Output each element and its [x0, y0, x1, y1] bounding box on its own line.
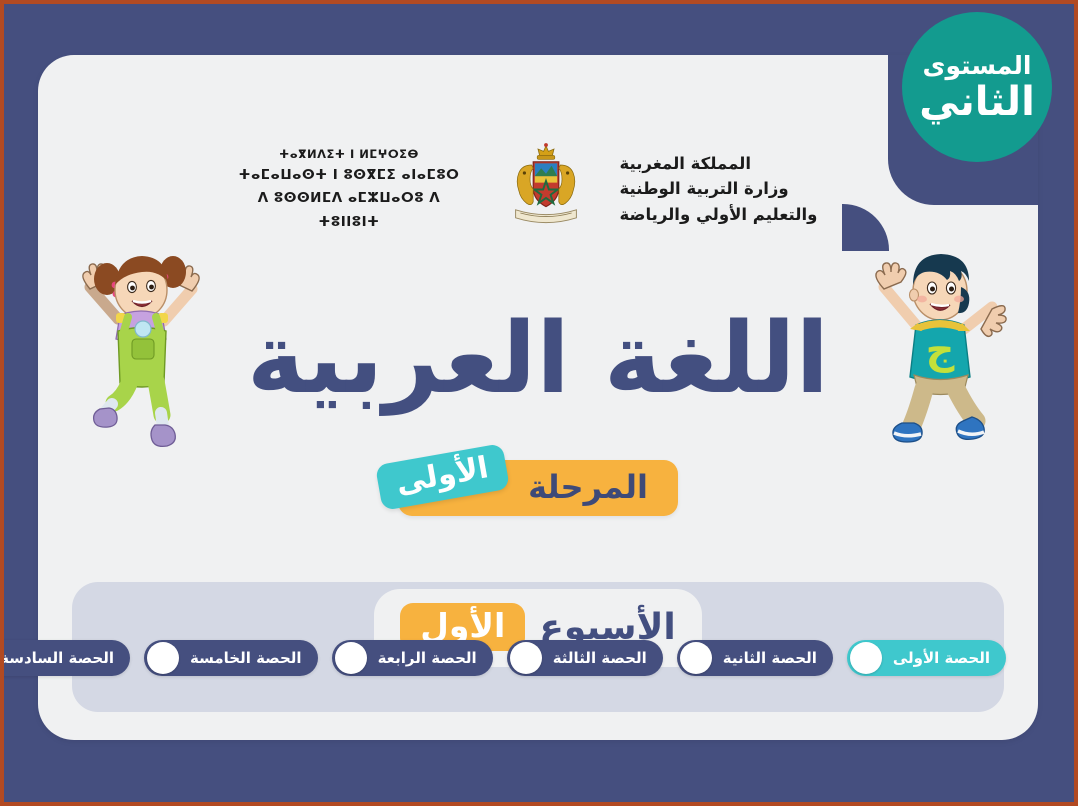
session-pill-6[interactable]: الحصة السادسة: [4, 640, 130, 676]
session-toggle-knob-5: [147, 642, 179, 674]
moroccan-coat-of-arms-icon: [498, 141, 594, 237]
session-toggle-knob-2: [680, 642, 712, 674]
session-pill-label-2: الحصة الثانية: [723, 649, 817, 667]
level-badge: المستوى الثاني: [902, 12, 1052, 162]
session-pill-2[interactable]: الحصة الثانية: [677, 640, 833, 676]
ministry-tifinagh-line-2: ⵜⴰⵎⴰⵡⴰⵙⵜ ⵏ ⵓⵙⴳⵎⵉ ⴰⵏⴰⵎⵓⵔ: [227, 164, 472, 188]
session-toggle-knob-4: [335, 642, 367, 674]
main-card: المملكة المغربية وزارة التربية الوطنية و…: [38, 55, 1038, 740]
page-frame: المملكة المغربية وزارة التربية الوطنية و…: [0, 0, 1078, 806]
session-pill-1[interactable]: الحصة الأولى: [847, 640, 1006, 676]
ministry-header: المملكة المغربية وزارة التربية الوطنية و…: [38, 141, 1038, 237]
page-background: المملكة المغربية وزارة التربية الوطنية و…: [4, 4, 1074, 802]
level-badge-top-label: المستوى: [923, 53, 1032, 78]
ministry-arabic-line-1: المملكة المغربية: [620, 151, 850, 177]
page-title-wrap: اللغة العربية: [38, 307, 1038, 413]
ministry-arabic-block: المملكة المغربية وزارة التربية الوطنية و…: [620, 151, 850, 228]
session-pill-label-4: الحصة الرابعة: [378, 649, 477, 667]
ministry-tifinagh-block: ⵜⴰⴳⵍⴷⵉⵜ ⵏ ⵍⵎⵖⵔⵉⴱ ⵜⴰⵎⴰⵡⴰⵙⵜ ⵏ ⵓⵙⴳⵎⵉ ⴰⵏⴰⵎⵓⵔ…: [227, 144, 472, 235]
ministry-arabic-line-2: وزارة التربية الوطنية: [620, 176, 850, 202]
session-pill-5[interactable]: الحصة الخامسة: [144, 640, 318, 676]
session-pill-label-3: الحصة الثالثة: [553, 649, 647, 667]
page-title: اللغة العربية: [38, 307, 1038, 413]
stage-ordinal-badge: الأولى: [375, 443, 510, 511]
ministry-tifinagh-line-1: ⵜⴰⴳⵍⴷⵉⵜ ⵏ ⵍⵎⵖⵔⵉⴱ: [227, 144, 472, 164]
stage-badge-wrap: المرحلة الأولى: [38, 460, 1038, 516]
ministry-arabic-line-3: والتعليم الأولي والرياضة: [620, 202, 850, 228]
session-pill-list: الحصة الأولى الحصة الثانية الحصة الثالثة…: [72, 638, 1012, 678]
session-pill-label-6: الحصة السادسة: [4, 649, 114, 667]
session-pill-3[interactable]: الحصة الثالثة: [507, 640, 663, 676]
session-toggle-knob-3: [510, 642, 542, 674]
level-badge-main-label: الثاني: [919, 82, 1035, 122]
session-pill-label-5: الحصة الخامسة: [190, 649, 302, 667]
session-pill-label-1: الحصة الأولى: [893, 649, 990, 667]
stage-badge: المرحلة الأولى: [398, 460, 678, 516]
session-toggle-knob-1: [850, 642, 882, 674]
session-pill-4[interactable]: الحصة الرابعة: [332, 640, 493, 676]
stage-label: المرحلة: [528, 468, 648, 506]
ministry-tifinagh-line-3: ⴷ ⵓⵙⵙⵍⵎⴷ ⴰⵎⵣⵡⴰⵔⵓ ⴷ ⵜⵓⵏⵏⵓⵏⵜ: [227, 187, 472, 234]
